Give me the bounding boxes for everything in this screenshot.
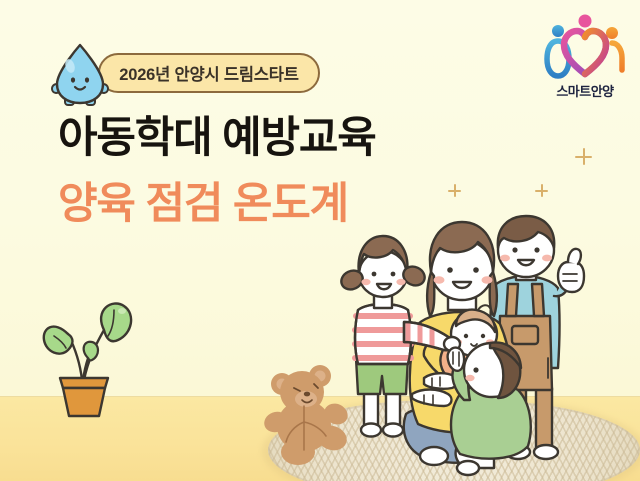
logo-mark <box>542 10 628 88</box>
logo-person-orange-head <box>606 27 618 39</box>
sparkle-bar-vertical <box>541 184 543 197</box>
logo-wordmark: 스마트안양 <box>542 81 628 100</box>
decorative-sparkle <box>535 184 548 197</box>
program-badge: 2026년 안양시 드림스타트 <box>98 53 320 93</box>
program-badge-label: 2026년 안양시 드림스타트 <box>119 61 299 85</box>
sparkle-bar-vertical <box>454 184 456 197</box>
logo-heart-right <box>585 31 606 74</box>
family-illustration <box>340 218 640 481</box>
poster-canvas: 2026년 안양시 드림스타트 아동학대 예방교육 양육 점검 온도계 <box>0 0 640 481</box>
decorative-sparkle <box>448 184 461 197</box>
headline-primary: 아동학대 예방교육 <box>58 117 376 160</box>
potted-plant <box>30 288 150 420</box>
headline-secondary: 양육 점검 온도계 <box>58 183 348 226</box>
water-droplet-mascot <box>48 42 112 110</box>
logo-person-orange-body <box>612 43 622 70</box>
smart-anyang-logo: 스마트안양 <box>542 10 628 104</box>
logo-person-blue-head <box>552 25 564 37</box>
decorative-sparkle <box>575 148 592 165</box>
logo-heart-head <box>579 15 592 28</box>
sparkle-bar-vertical <box>583 148 585 165</box>
